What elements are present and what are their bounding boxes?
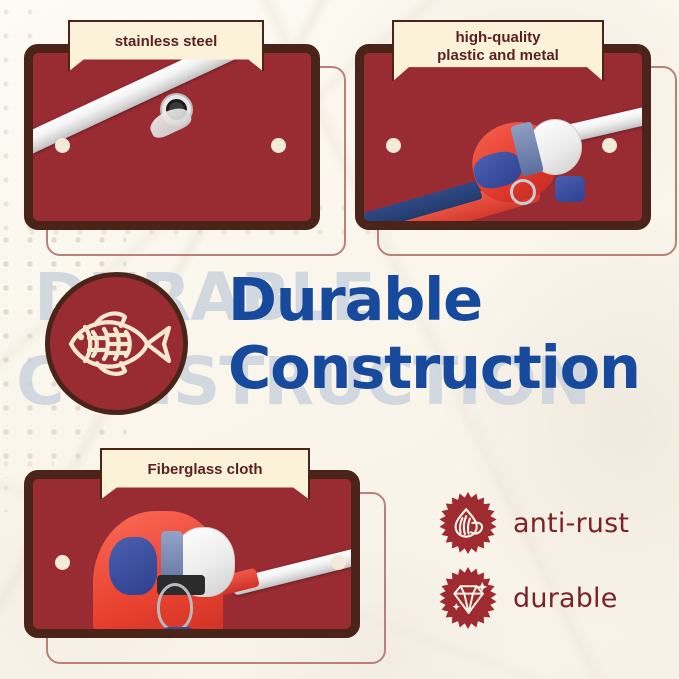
panel-high-quality[interactable] xyxy=(355,44,675,244)
panel-hole-left xyxy=(55,138,70,153)
banner-label: stainless steel xyxy=(115,33,218,50)
panel-hole-right xyxy=(602,138,617,153)
fish-eye-icon xyxy=(77,333,83,339)
poster-canvas: DURABLE CONSTRUCTION stainless steel xyxy=(0,0,679,679)
panel-hole-right xyxy=(331,555,346,570)
panel-hole-right xyxy=(271,138,286,153)
page-title-line2: Construction xyxy=(228,340,640,397)
panel-fiberglass-cloth[interactable] xyxy=(24,470,404,650)
reel-thumb-button-image xyxy=(555,176,585,202)
panel-hole-left xyxy=(55,555,70,570)
banner-label-line2: plastic and metal xyxy=(437,47,559,64)
panel-stainless-steel[interactable] xyxy=(24,44,344,244)
panel-frame xyxy=(24,44,320,230)
water-drop-icon xyxy=(437,492,499,554)
panel-hole-left xyxy=(386,138,401,153)
feature-durable: durable xyxy=(437,567,618,629)
feature-label: anti-rust xyxy=(513,508,629,539)
reel-trigger-image xyxy=(109,537,157,595)
banner-label-line1: high-quality xyxy=(456,29,541,46)
fish-logo-badge xyxy=(45,272,188,415)
starburst-badge xyxy=(437,567,499,629)
reel-handle-image xyxy=(157,583,193,631)
feature-anti-rust: anti-rust xyxy=(437,492,629,554)
starburst-badge xyxy=(437,492,499,554)
reel-handle-image xyxy=(510,179,536,205)
page-title-line1: Durable xyxy=(228,272,482,329)
feature-label: durable xyxy=(513,583,618,614)
handle-knob-image xyxy=(161,627,195,638)
banner-label: Fiberglass cloth xyxy=(147,461,262,478)
diamond-icon xyxy=(437,567,499,629)
fish-icon xyxy=(61,305,173,383)
